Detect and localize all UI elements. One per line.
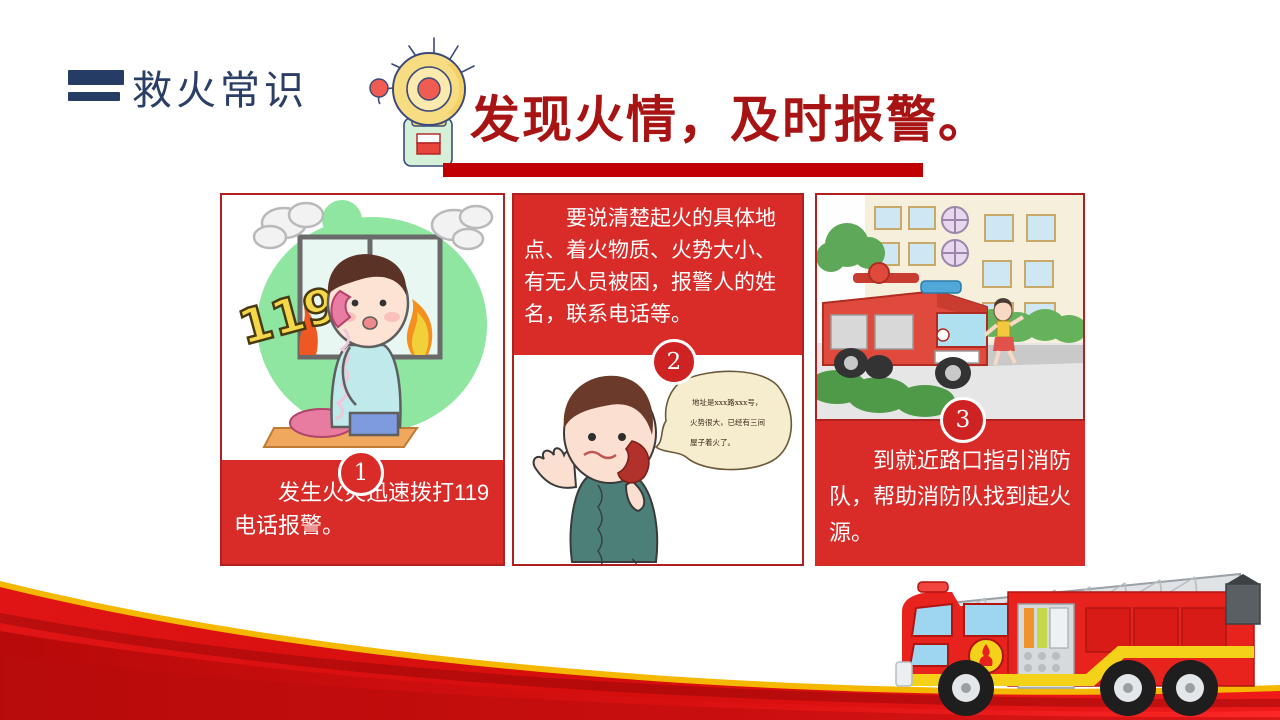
fire-truck-at-building-illustration bbox=[815, 193, 1085, 421]
panel-3: 到就近路口指引消防队，帮助消防队找到起火源。 bbox=[815, 193, 1085, 566]
alarm-bell-icon bbox=[362, 26, 482, 176]
bar-top bbox=[68, 70, 124, 85]
title-underline-bar bbox=[443, 163, 923, 177]
panel-2-number-badge: 2 bbox=[651, 339, 697, 385]
panel-3-number-badge: 3 bbox=[940, 397, 986, 443]
slide-canvas: 救火常识 发现火情，及时报警。 bbox=[0, 0, 1280, 720]
page-title: 发现火情，及时报警。 bbox=[470, 80, 990, 152]
bar-bottom bbox=[68, 92, 120, 101]
boy-calling-119-illustration: 119 bbox=[222, 195, 503, 460]
boy-on-phone-illustration: 地址是xxx路xxx号， 火势很大，已经有三间 屋子着火了。 bbox=[514, 357, 802, 564]
section-label: 救火常识 bbox=[132, 58, 308, 116]
panel-1: 119 bbox=[220, 193, 505, 566]
panel-2-caption: 要说清楚起火的具体地点、着火物质、火势大小、有无人员被困，报警人的姓名，联系电话… bbox=[514, 195, 802, 355]
bubble-line-1: 地址是xxx路xxx号， bbox=[692, 397, 762, 407]
panel-2: 要说清楚起火的具体地点、着火物质、火势大小、有无人员被困，报警人的姓名，联系电话… bbox=[512, 193, 804, 566]
bubble-line-2: 火势很大，已经有三间 bbox=[690, 417, 765, 427]
fire-truck-icon bbox=[890, 550, 1280, 720]
double-bar-icon bbox=[68, 70, 124, 101]
bubble-line-3: 屋子着火了。 bbox=[690, 437, 735, 447]
panel-1-number-badge: 1 bbox=[338, 450, 384, 496]
